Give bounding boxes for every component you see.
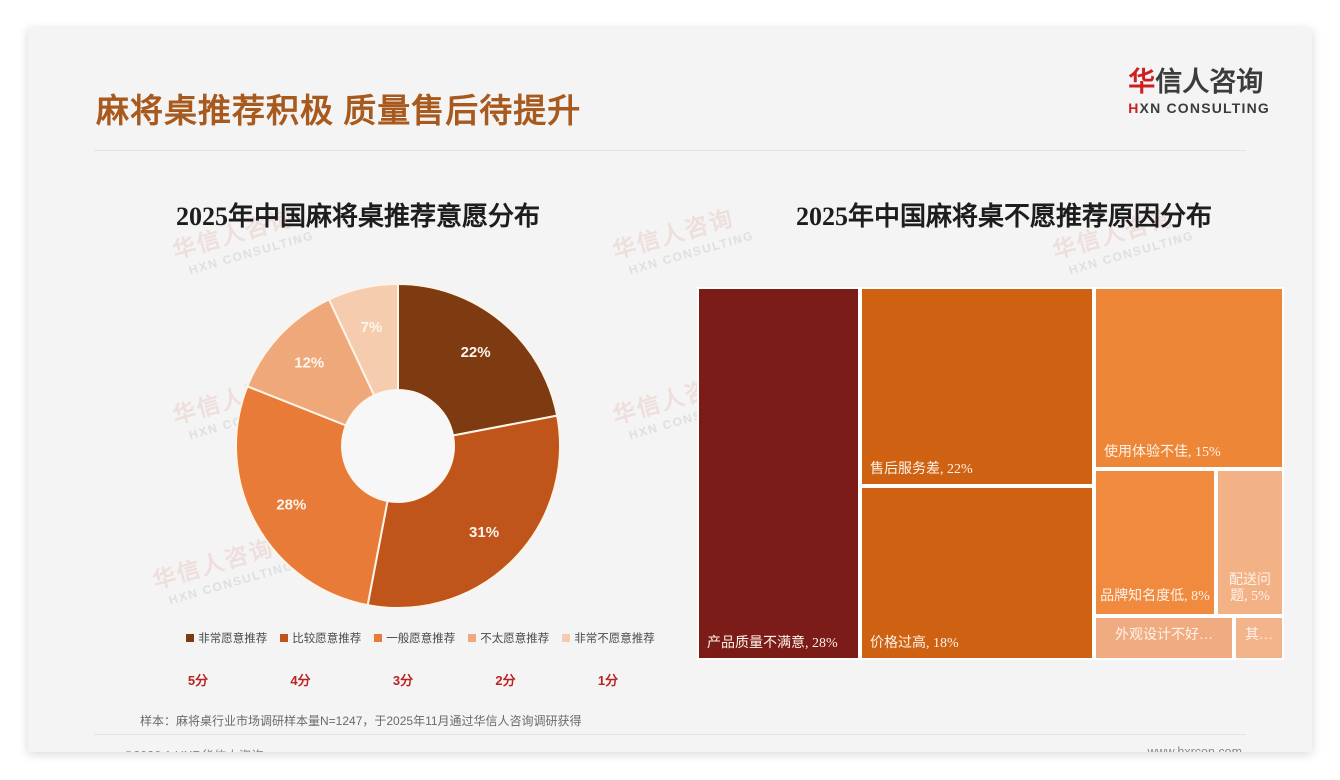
legend-label: 比较愿意推荐	[292, 630, 361, 646]
watermark-en: HXN CONSULTING	[187, 228, 315, 277]
watermark-en: HXN CONSULTING	[627, 228, 755, 277]
legend-item[interactable]: 非常愿意推荐	[186, 630, 267, 646]
donut-slice-label: 31%	[469, 524, 499, 541]
treemap-cell[interactable]: 配送问题, 5%	[1216, 469, 1284, 616]
legend-swatch-icon	[280, 634, 288, 642]
footer-copyright: ©2026.1 HXR华信人咨询	[124, 745, 264, 752]
donut-slice-label: 28%	[276, 497, 306, 514]
donut-hole	[342, 390, 454, 502]
logo-cn-red: 华	[1128, 67, 1155, 97]
score-label: 1分	[578, 670, 638, 689]
treemap-cell-label: 售后服务差, 22%	[870, 462, 1087, 479]
donut-slice-label: 22%	[461, 344, 491, 361]
legend-item[interactable]: 非常不愿意推荐	[562, 630, 655, 646]
treemap-cell[interactable]: 产品质量不满意, 28%	[697, 287, 860, 660]
treemap-cell-label: 其…	[1238, 628, 1280, 645]
slide-header: 麻将桌推荐积极 质量售后待提升 华信人咨询 HXN CONSULTING	[28, 28, 1312, 130]
score-label: 5分	[168, 670, 228, 689]
treemap-cell[interactable]: 使用体验不佳, 15%	[1094, 287, 1284, 469]
donut-chart: 22%31%28%12%7%	[233, 281, 563, 611]
footer-divider	[94, 734, 1246, 735]
score-label: 2分	[476, 670, 536, 689]
legend-swatch-icon	[186, 634, 194, 642]
donut-legend: 非常愿意推荐比较愿意推荐一般愿意推荐不太愿意推荐非常不愿意推荐	[148, 630, 693, 646]
logo-en-red: H	[1128, 100, 1139, 116]
donut-chart-svg: 22%31%28%12%7%	[233, 281, 563, 611]
donut-slice-label: 7%	[361, 319, 383, 336]
watermark: 华信人咨询 HXN CONSULTING	[608, 195, 756, 281]
treemap-cell-label: 品牌知名度低, 8%	[1100, 589, 1210, 606]
legend-label: 非常不愿意推荐	[574, 630, 655, 646]
legend-swatch-icon	[374, 634, 382, 642]
legend-swatch-icon	[468, 634, 476, 642]
donut-chart-title: 2025年中国麻将桌推荐意愿分布	[176, 196, 540, 233]
treemap-cell[interactable]: 外观设计不好…	[1094, 616, 1234, 660]
donut-slice-label: 12%	[294, 355, 324, 372]
sample-footnote: 样本：麻将桌行业市场调研样本量N=1247，于2025年11月通过华信人咨询调研…	[140, 712, 582, 729]
slide-canvas: 华信人咨询 HXN CONSULTING 华信人咨询 HXN CONSULTIN…	[28, 28, 1312, 752]
legend-label: 不太愿意推荐	[480, 630, 549, 646]
treemap-cell-label: 使用体验不佳, 15%	[1104, 445, 1277, 462]
treemap-cell-label: 价格过高, 18%	[870, 636, 1087, 653]
page-title: 麻将桌推荐积极 质量售后待提升	[96, 84, 581, 132]
logo-en-rest: XN CONSULTING	[1140, 100, 1270, 116]
header-divider	[94, 150, 1246, 151]
watermark-cn: 华信人咨询	[608, 195, 751, 266]
treemap-cell[interactable]: 售后服务差, 22%	[860, 287, 1094, 486]
legend-item[interactable]: 比较愿意推荐	[280, 630, 361, 646]
treemap-cell[interactable]: 其…	[1234, 616, 1284, 660]
treemap-cell-label: 外观设计不好…	[1098, 628, 1230, 645]
legend-item[interactable]: 一般愿意推荐	[374, 630, 455, 646]
logo-chinese: 华信人咨询	[1128, 68, 1270, 96]
treemap-chart: 产品质量不满意, 28%售后服务差, 22%价格过高, 18%使用体验不佳, 1…	[697, 287, 1284, 660]
treemap-cell-label: 产品质量不满意, 28%	[707, 636, 853, 653]
logo-english: HXN CONSULTING	[1128, 100, 1270, 116]
score-label: 4分	[271, 670, 331, 689]
treemap-cell[interactable]: 品牌知名度低, 8%	[1094, 469, 1216, 616]
legend-item[interactable]: 不太愿意推荐	[468, 630, 549, 646]
legend-label: 一般愿意推荐	[386, 630, 455, 646]
footer-website: www.hxrcon.com	[1148, 745, 1242, 752]
treemap-cell[interactable]: 价格过高, 18%	[860, 486, 1094, 660]
legend-label: 非常愿意推荐	[198, 630, 267, 646]
brand-logo: 华信人咨询 HXN CONSULTING	[1128, 68, 1270, 116]
legend-swatch-icon	[562, 634, 570, 642]
score-scale-row: 5分4分3分2分1分	[168, 670, 638, 689]
treemap-chart-title: 2025年中国麻将桌不愿推荐原因分布	[796, 196, 1212, 233]
logo-cn-rest: 信人咨询	[1155, 67, 1263, 97]
score-label: 3分	[373, 670, 433, 689]
treemap-cell-label: 配送问题, 5%	[1222, 573, 1278, 606]
watermark-en: HXN CONSULTING	[1067, 228, 1195, 277]
